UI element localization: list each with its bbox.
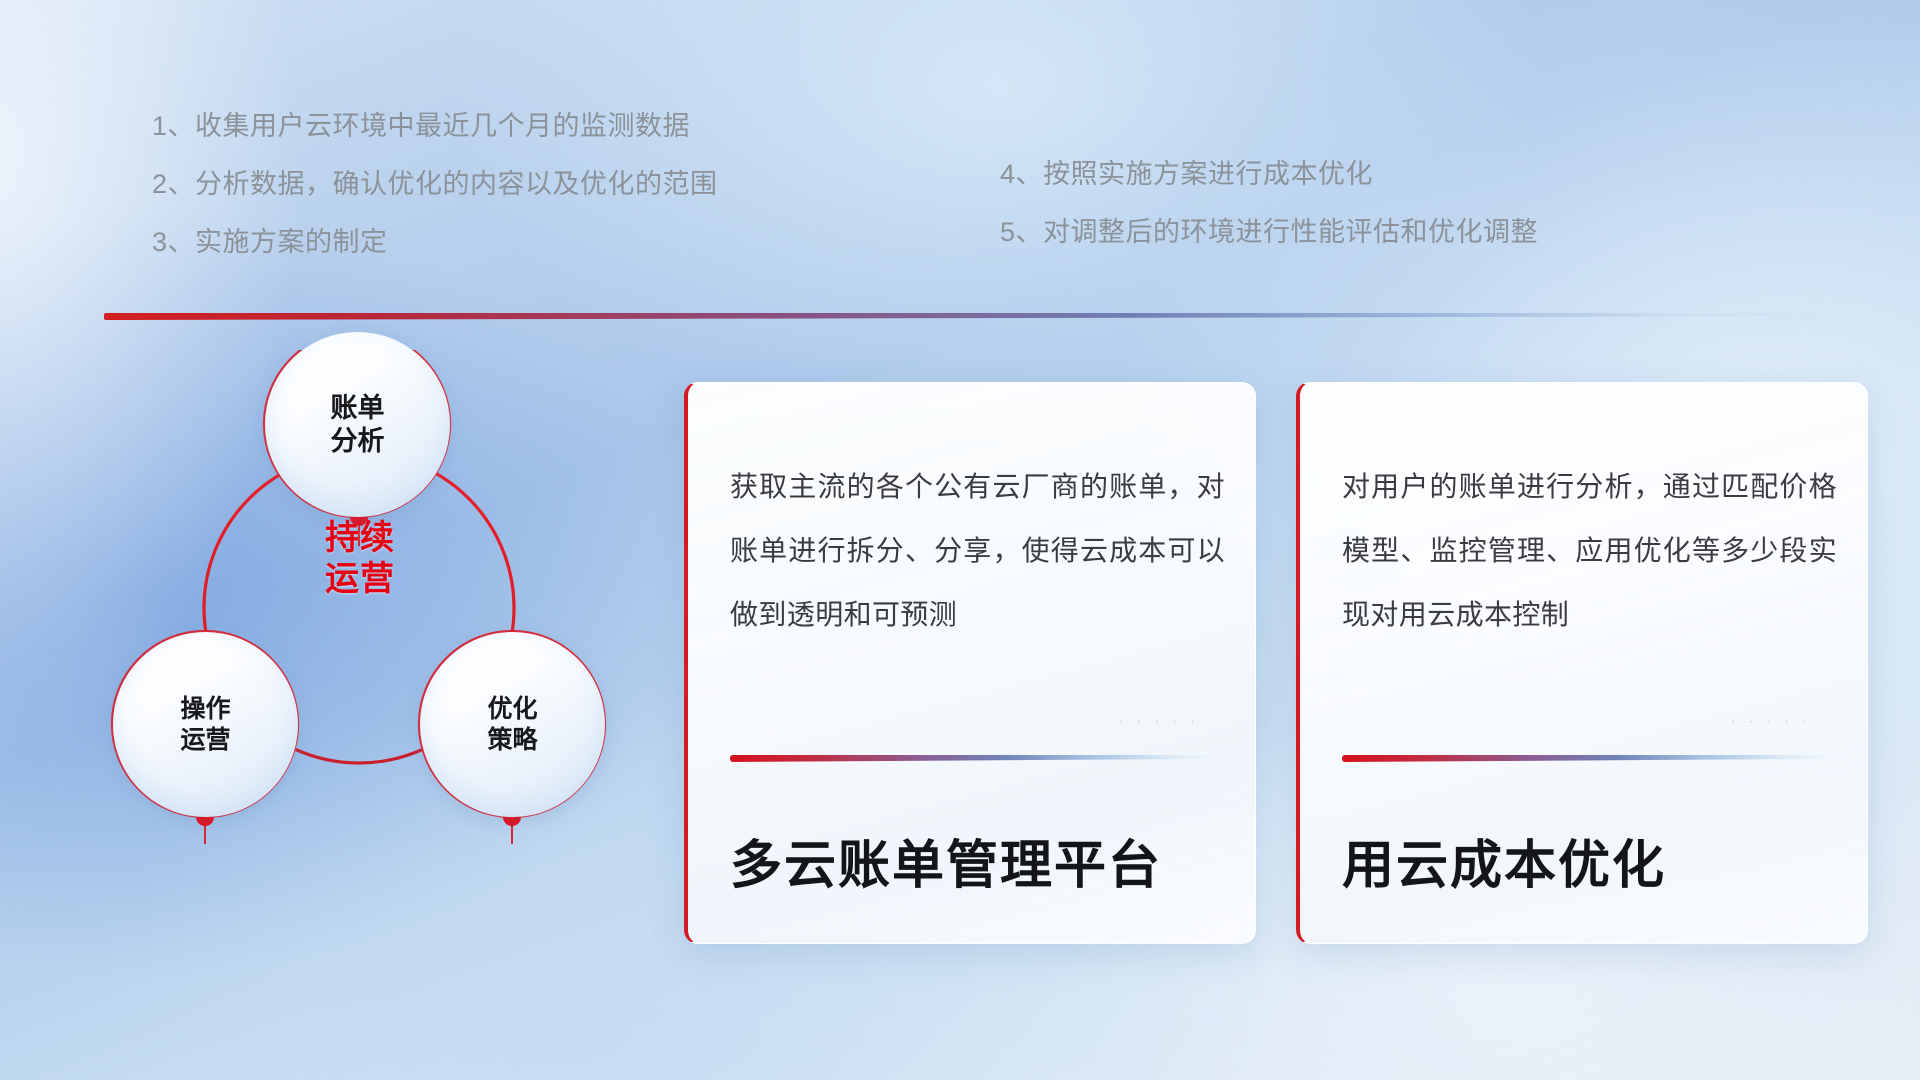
continuous-operation-diagram: 账单 分析 操作 运营 优化 策略 持续 运营 (100, 350, 660, 950)
bubble-bill-analysis-line1: 账单 (331, 392, 385, 425)
center-label-line2: 运营 (280, 559, 440, 600)
card2-body-text: 对用户的账单进行分析，通过匹配价格模型、监控管理、应用优化等多少段实现对用云成本… (1342, 455, 1837, 646)
step-item-1: 1、收集用户云环境中最近几个月的监测数据 (152, 104, 690, 143)
bubble-bill-analysis[interactable]: 账单 分析 (265, 332, 450, 517)
card1-accent-rule (730, 755, 1220, 762)
bubble-operation[interactable]: 操作 运营 (113, 632, 298, 817)
diagram-center-label: 持续 运营 (280, 518, 440, 601)
card2-accent-rule (1342, 755, 1832, 762)
card2-decorative-dots: · · · · · (1731, 713, 1811, 731)
card1-title: 多云账单管理平台 (730, 823, 1162, 898)
step-item-3: 3、实施方案的制定 (152, 220, 388, 259)
card2-title: 用云成本优化 (1342, 823, 1666, 898)
center-label-line1: 持续 (280, 518, 440, 559)
bubble-bill-analysis-line2: 分析 (331, 425, 385, 458)
card1-body-text: 获取主流的各个公有云厂商的账单，对账单进行拆分、分享，使得云成本可以做到透明和可… (730, 455, 1225, 646)
bubble-operation-line1: 操作 (180, 694, 230, 725)
bubble-optimization-strategy-line2: 策略 (487, 725, 537, 756)
card-multi-cloud-bill-platform[interactable]: 获取主流的各个公有云厂商的账单，对账单进行拆分、分享，使得云成本可以做到透明和可… (684, 382, 1256, 944)
bubble-operation-line2: 运营 (180, 725, 230, 756)
card-cloud-cost-optimization[interactable]: 对用户的账单进行分析，通过匹配价格模型、监控管理、应用优化等多少段实现对用云成本… (1296, 382, 1868, 944)
bubble-optimization-strategy-line1: 优化 (487, 694, 537, 725)
step-item-5: 5、对调整后的环境进行性能评估和优化调整 (1000, 210, 1538, 249)
step-item-2: 2、分析数据，确认优化的内容以及优化的范围 (152, 162, 718, 201)
bubble-optimization-strategy[interactable]: 优化 策略 (420, 632, 605, 817)
card1-decorative-dots: · · · · · (1119, 713, 1199, 731)
step-item-4: 4、按照实施方案进行成本优化 (1000, 152, 1373, 191)
step-list: 1、收集用户云环境中最近几个月的监测数据 2、分析数据，确认优化的内容以及优化的… (0, 0, 1920, 300)
